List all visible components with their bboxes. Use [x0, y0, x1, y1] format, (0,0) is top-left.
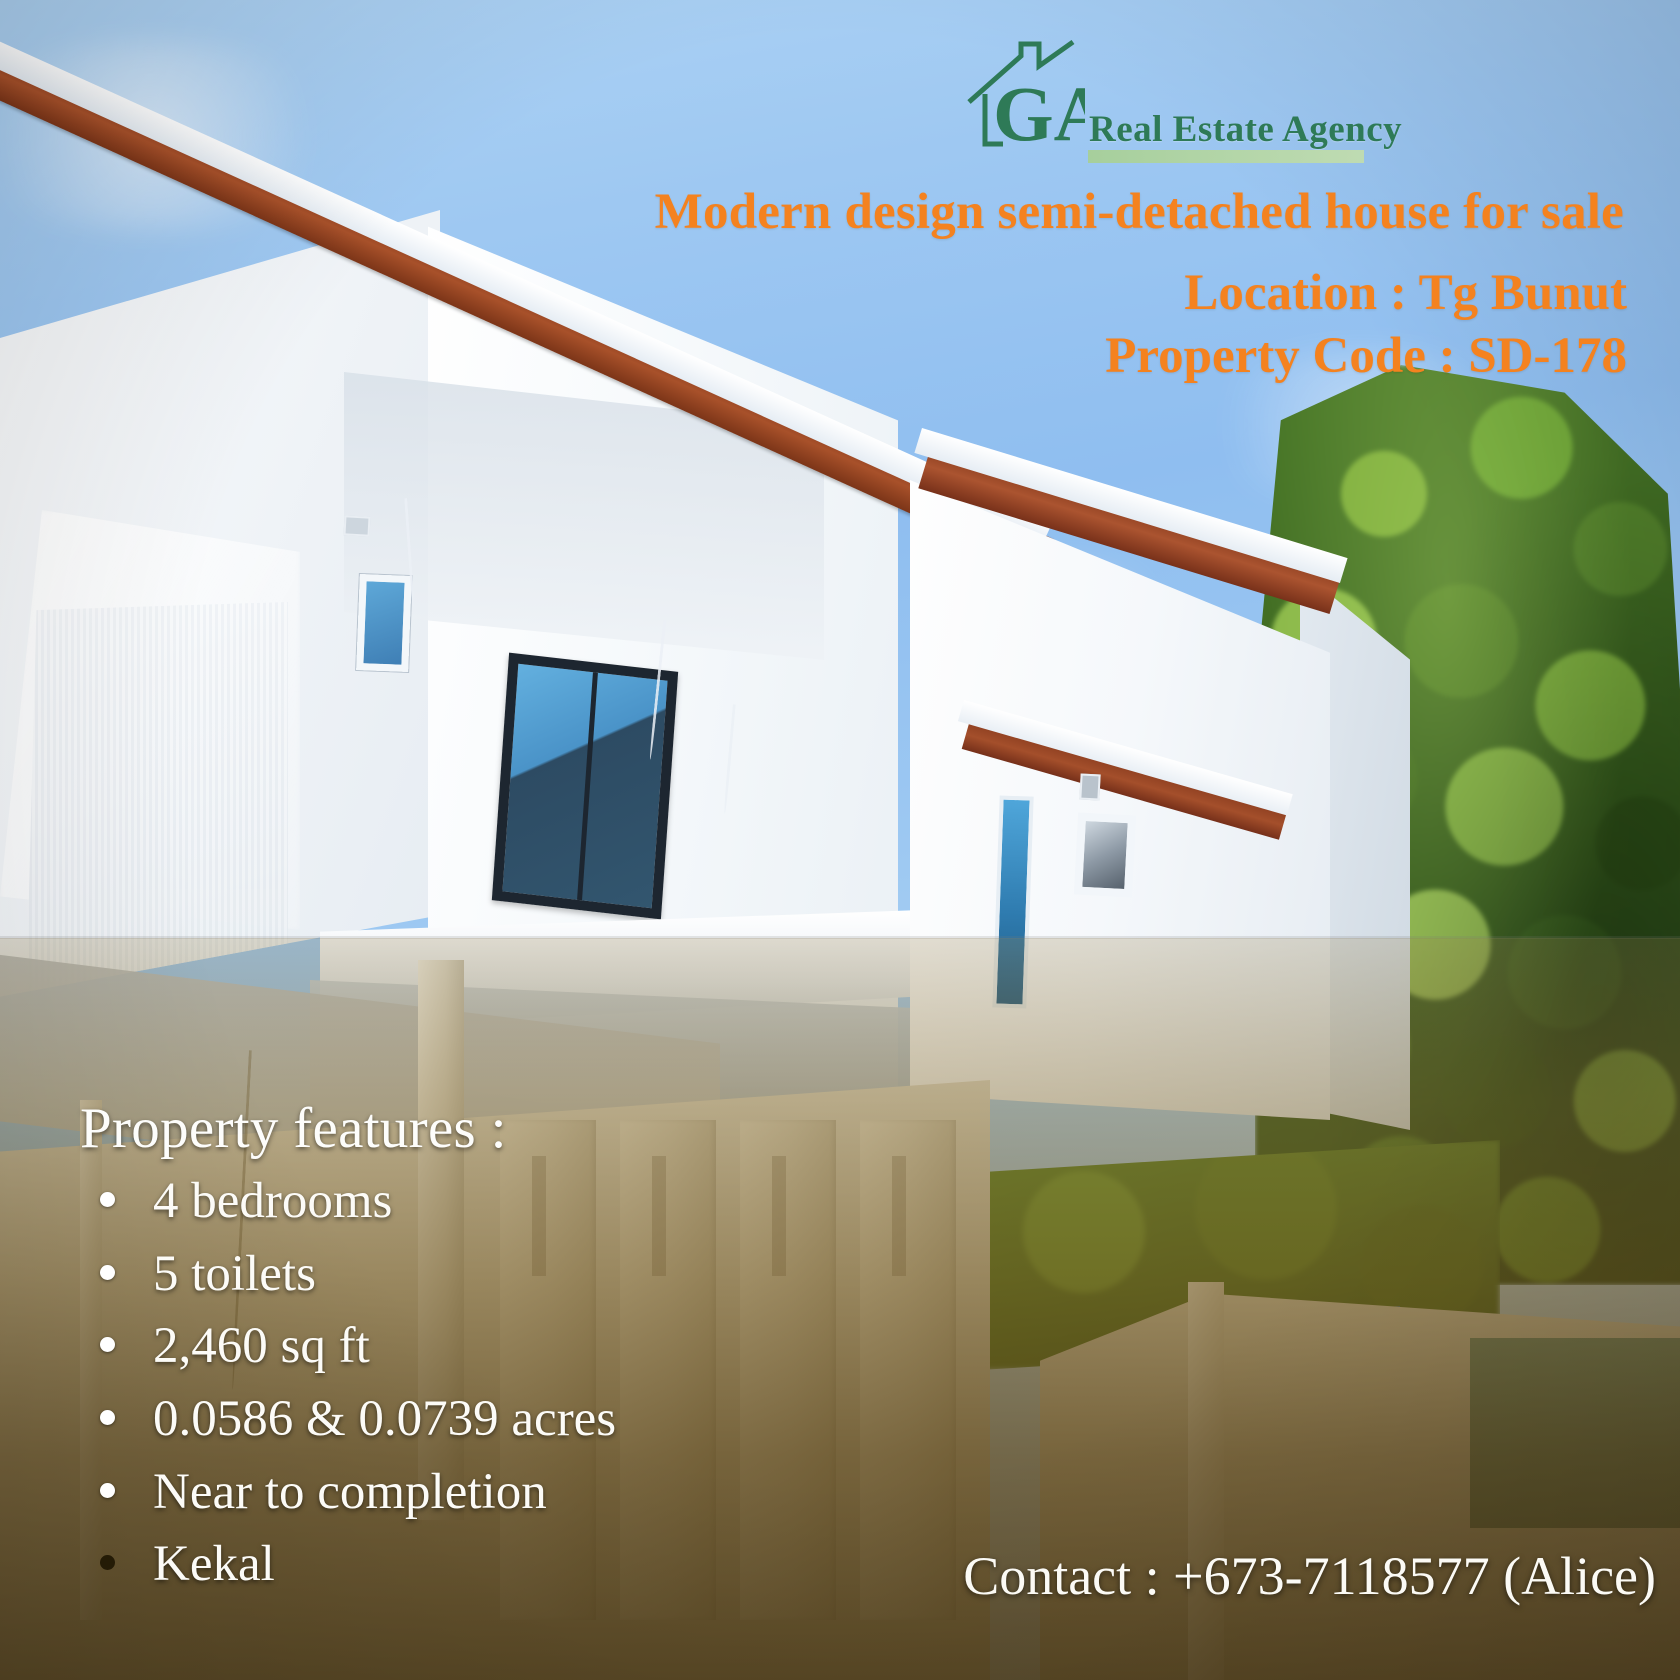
features-list: 4 bedrooms 5 toilets 2,460 sq ft 0.0586 … — [100, 1172, 616, 1608]
list-item: Near to completion — [100, 1463, 616, 1522]
bullet-icon — [100, 1555, 115, 1570]
agency-name: Real Estate Agency — [1089, 111, 1402, 148]
contact-text: Contact : +673-7118577 (Alice) — [963, 1545, 1656, 1607]
list-item: 0.0586 & 0.0739 acres — [100, 1390, 616, 1449]
house-outline-icon: GA — [963, 40, 1085, 152]
property-code-text: Property Code : SD-178 — [27, 327, 1627, 385]
location-text: Location : Tg Bunut — [27, 264, 1627, 322]
list-item: 5 toilets — [100, 1245, 616, 1304]
headline-text: Modern design semi-detached house for sa… — [0, 183, 1624, 241]
list-item: 2,460 sq ft — [100, 1317, 616, 1376]
feature-label: 5 toilets — [153, 1245, 316, 1304]
feature-label: Near to completion — [153, 1463, 547, 1522]
bullet-icon — [100, 1410, 115, 1425]
feature-label: 0.0586 & 0.0739 acres — [153, 1390, 616, 1449]
bullet-icon — [100, 1337, 115, 1352]
list-item: 4 bedrooms — [100, 1172, 616, 1231]
bullet-icon — [100, 1192, 115, 1207]
feature-label: Kekal — [153, 1535, 275, 1594]
bullet-icon — [100, 1265, 115, 1280]
logo-underline — [1088, 150, 1364, 163]
bullet-icon — [100, 1483, 115, 1498]
feature-label: 2,460 sq ft — [153, 1317, 370, 1376]
svg-text:GA: GA — [993, 70, 1085, 152]
property-advertisement-poster: GA Real Estate Agency Modern design semi… — [0, 0, 1680, 1680]
agency-logo: GA Real Estate Agency — [963, 40, 1402, 152]
features-title: Property features : — [80, 1096, 507, 1161]
text-overlay-layer: GA Real Estate Agency Modern design semi… — [0, 0, 1680, 1680]
list-item: Kekal — [100, 1535, 616, 1594]
agency-name-wrap: Real Estate Agency — [1089, 111, 1402, 152]
feature-label: 4 bedrooms — [153, 1172, 392, 1231]
